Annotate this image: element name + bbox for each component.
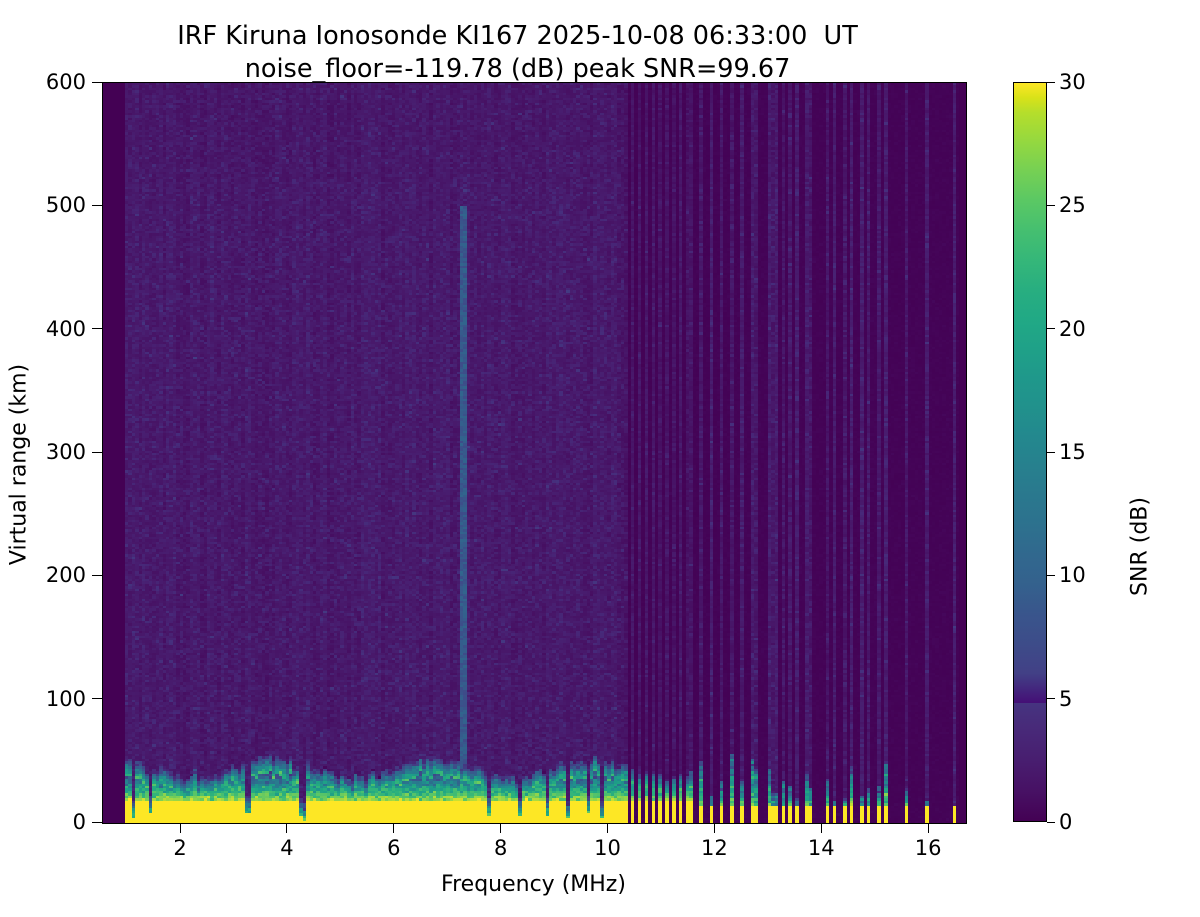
y-tick-mark [92,205,102,206]
colorbar-tick-mark [1047,82,1055,83]
x-tick-mark [500,823,501,833]
x-tick-mark [714,823,715,833]
y-tick-mark [92,452,102,453]
colorbar-tick-label: 20 [1059,319,1086,340]
x-tick-mark [928,823,929,833]
y-axis-title: Virtual range (km) [7,95,32,835]
x-tick-mark [821,823,822,833]
x-tick-label: 16 [888,838,968,859]
colorbar-title: SNR (dB) [1128,177,1153,917]
colorbar-tick-label: 10 [1059,565,1086,586]
ionogram-plot-area[interactable] [102,82,967,824]
colorbar-gradient[interactable] [1013,82,1047,822]
colorbar-tick-mark [1047,452,1055,453]
ionogram-heatmap[interactable] [103,83,966,823]
colorbar-container: 051015202530 SNR (dB) [1013,82,1047,822]
y-tick-mark [92,575,102,576]
figure-title: IRF Kiruna Ionosonde KI167 2025-10-08 06… [0,20,1035,85]
x-tick-label: 12 [674,838,754,859]
colorbar-tick-mark [1047,328,1055,329]
x-tick-label: 10 [568,838,648,859]
x-tick-mark [607,823,608,833]
x-axis-title: Frequency (MHz) [102,872,965,897]
y-tick-label: 600 [0,72,86,93]
y-tick-mark [92,698,102,699]
colorbar-tick-label: 30 [1059,72,1086,93]
title-line-2: noise_floor=-119.78 (dB) peak SNR=99.67 [0,53,1035,86]
ionogram-figure: IRF Kiruna Ionosonde KI167 2025-10-08 06… [0,0,1200,900]
colorbar-tick-label: 5 [1059,689,1072,710]
colorbar-tick-label: 0 [1059,812,1072,833]
x-tick-label: 6 [354,838,434,859]
x-tick-label: 4 [247,838,327,859]
title-line-1: IRF Kiruna Ionosonde KI167 2025-10-08 06… [0,20,1035,53]
x-tick-mark [393,823,394,833]
x-tick-label: 8 [461,838,541,859]
colorbar-tick-mark [1047,575,1055,576]
y-tick-mark [92,822,102,823]
y-tick-mark [92,328,102,329]
colorbar-tick-mark [1047,698,1055,699]
colorbar-tick-label: 25 [1059,195,1086,216]
colorbar-tick-mark [1047,205,1055,206]
y-tick-mark [92,82,102,83]
x-tick-mark [180,823,181,833]
colorbar-tick-label: 15 [1059,442,1086,463]
x-tick-label: 2 [140,838,220,859]
colorbar-tick-mark [1047,822,1055,823]
x-tick-mark [286,823,287,833]
x-tick-label: 14 [781,838,861,859]
